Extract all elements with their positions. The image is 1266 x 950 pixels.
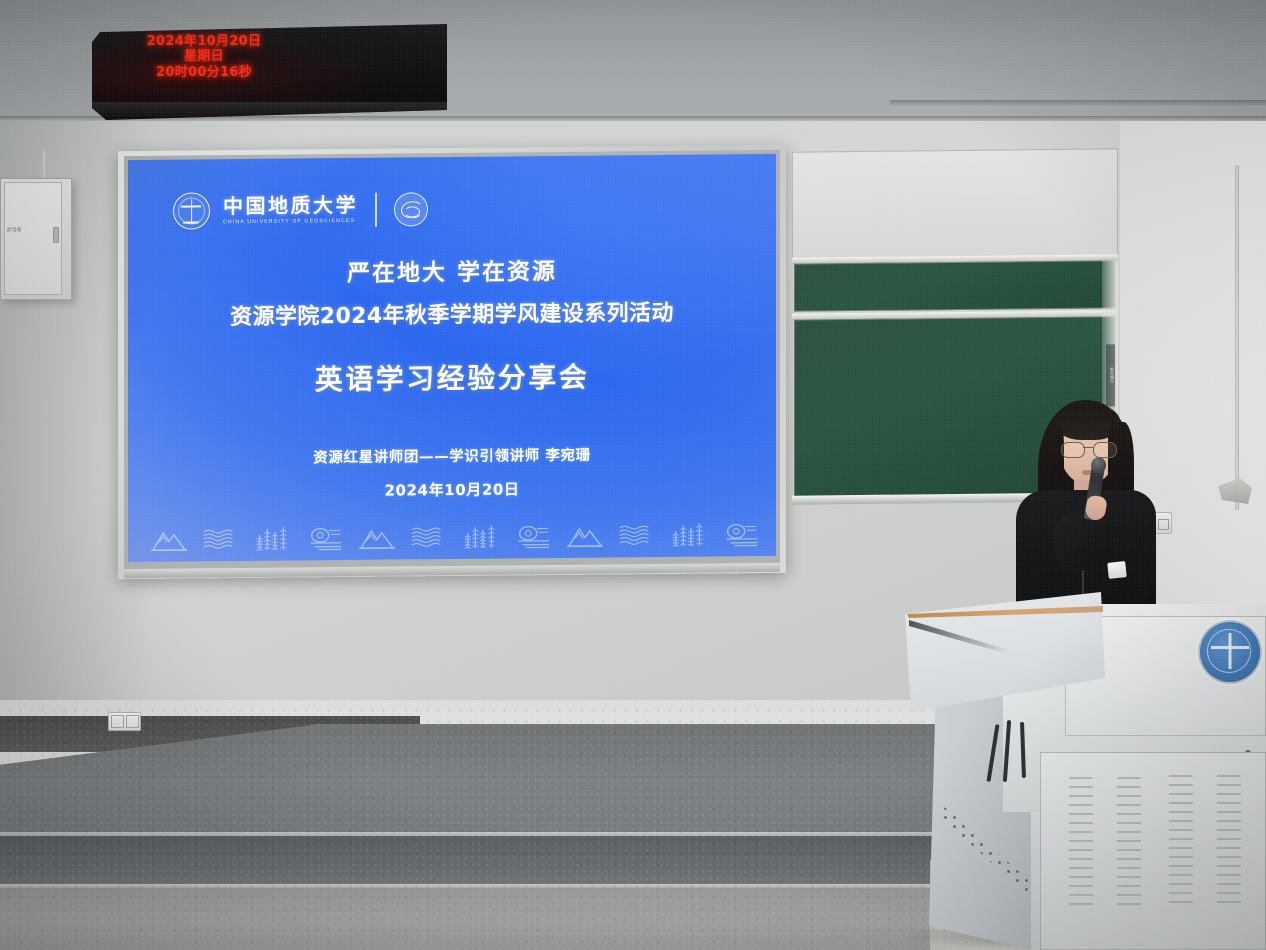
cable-hook — [1020, 722, 1026, 778]
university-name-cn: 中国地质大学 — [223, 195, 358, 217]
lecture-hall-photo: 配电箱 2024年10月20日 星期日 20时00分16秒 中国地质大学 — [0, 0, 1266, 950]
emblem-inner-ring — [1207, 629, 1251, 673]
lectern-cabinet-door[interactable] — [1040, 752, 1266, 950]
book-icon — [722, 518, 760, 548]
forest-icon — [254, 523, 292, 553]
seal-inner-ring — [178, 197, 205, 224]
ventilation-slots — [1069, 777, 1093, 909]
projection-screen-frame: 中国地质大学 CHINA UNIVERSITY OF GEOSCIENCES 严… — [118, 145, 786, 579]
outlet-socket — [111, 715, 124, 728]
lens-left — [1061, 442, 1085, 458]
glasses-bridge — [1083, 447, 1093, 448]
waves-icon — [410, 521, 448, 551]
lens-right — [1093, 442, 1117, 458]
university-name-en: CHINA UNIVERSITY OF GEOSCIENCES — [223, 218, 358, 225]
led-weekday: 星期日 — [114, 49, 294, 64]
name-badge — [1107, 561, 1127, 579]
seal-swirl-inner — [404, 206, 420, 217]
waves-icon — [202, 523, 240, 553]
waves-icon — [618, 519, 656, 549]
school-of-earth-resources-seal-icon — [394, 192, 428, 226]
control-box-label: 配电箱 — [7, 227, 22, 233]
slide-date: 2024年10月20日 — [128, 476, 776, 503]
ceiling-conduit-pipe — [1235, 165, 1239, 510]
book-icon — [306, 522, 344, 552]
board-upper-wall-panel — [792, 148, 1118, 259]
mountain-icon — [566, 520, 604, 550]
slide-motto: 严在地大 学在资源 — [128, 250, 776, 290]
ventilation-slots — [1169, 775, 1193, 909]
led-clock-display: 2024年10月20日 星期日 20时00分16秒 — [92, 24, 447, 120]
forest-icon — [462, 521, 500, 551]
slide-subtitle: 资源学院2024年秋季学期学风建设系列活动 — [128, 294, 776, 332]
ventilation-slots — [1217, 775, 1241, 909]
lower-floor — [0, 888, 980, 950]
wall-control-box[interactable]: 配电箱 — [0, 178, 72, 300]
presenter — [1008, 398, 1158, 613]
mountain-icon — [358, 522, 396, 552]
slide-title: 英语学习经验分享会 — [128, 354, 776, 400]
chalkboard-upper-panel — [794, 260, 1116, 311]
control-box-latch[interactable] — [53, 227, 59, 243]
slide-logo-row: 中国地质大学 CHINA UNIVERSITY OF GEOSCIENCES — [173, 190, 428, 229]
led-time: 20时00分16秒 — [114, 65, 294, 80]
projection-screen: 中国地质大学 CHINA UNIVERSITY OF GEOSCIENCES 严… — [128, 154, 776, 562]
led-clock-text: 2024年10月20日 星期日 20时00分16秒 — [114, 34, 294, 80]
eyeglasses-icon — [1060, 442, 1118, 457]
seal-base — [183, 222, 199, 224]
cable-hook — [1003, 720, 1011, 782]
slide-presenter: 资源红星讲师团——学识引领讲师 李宛珊 — [128, 442, 776, 469]
slide-decor-icon-band — [150, 506, 760, 554]
mountain-icon — [150, 524, 188, 554]
university-emblem-icon — [1198, 620, 1262, 684]
led-date: 2024年10月20日 — [114, 34, 294, 49]
lectern — [905, 592, 1266, 950]
logo-divider — [375, 192, 377, 226]
book-icon — [514, 520, 552, 550]
wall-power-outlet-left[interactable] — [108, 712, 141, 731]
university-seal-icon — [173, 192, 210, 229]
university-name-block: 中国地质大学 CHINA UNIVERSITY OF GEOSCIENCES — [223, 195, 358, 225]
ceiling-beam — [890, 100, 1266, 107]
cable-hooks-icon — [991, 720, 1039, 800]
outlet-socket — [126, 715, 139, 728]
ventilation-slots — [1117, 777, 1141, 909]
forest-icon — [670, 519, 708, 549]
control-box-conduit — [42, 150, 45, 180]
